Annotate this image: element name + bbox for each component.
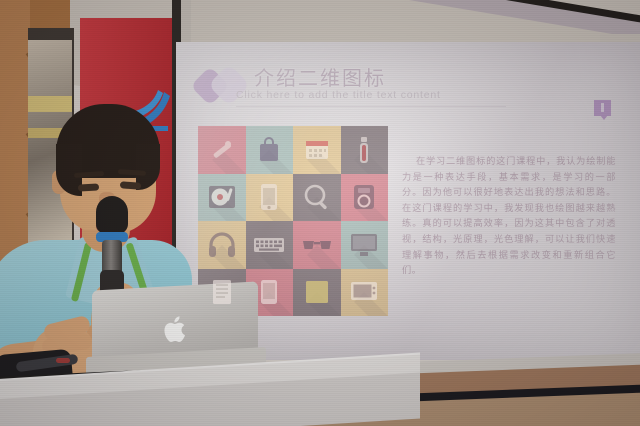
shopping-bag-icon	[257, 137, 281, 163]
icon-grid	[198, 126, 388, 316]
headphones-icon	[208, 232, 236, 258]
thermometer-icon	[357, 136, 371, 164]
cable-red-tag	[56, 358, 70, 363]
grid-tile-thermometer	[341, 126, 389, 174]
grid-tile-smartphone	[246, 174, 294, 222]
presentation-photo: 介绍二维图标 Click here to add the title text …	[0, 0, 640, 426]
pen-icon	[209, 137, 235, 163]
grid-tile-headphones	[198, 221, 246, 269]
slide-subtitle: Click here to add the title text content	[236, 89, 441, 101]
grid-tile-sunglasses	[293, 221, 341, 269]
grid-tile-television	[341, 269, 389, 317]
grid-tile-keyboard	[246, 221, 294, 269]
sunglasses-icon	[302, 238, 332, 252]
grid-tile-turntable	[198, 174, 246, 222]
eye-right	[120, 181, 141, 189]
keyboard-icon	[254, 238, 284, 252]
television-icon	[350, 281, 378, 303]
microphone-head	[96, 196, 128, 234]
title-divider	[236, 106, 506, 107]
slide-title: 介绍二维图标	[254, 62, 386, 91]
search-icon	[303, 183, 331, 211]
smartphone-icon	[260, 183, 278, 211]
grid-tile-bag	[246, 126, 294, 174]
apple-logo-icon	[162, 314, 188, 344]
grid-tile-calendar	[293, 126, 341, 174]
purple-pin-badge-mark	[601, 103, 604, 112]
slide-body-text: 在学习二维图标的这门课程中，我认为绘制能力是一种表达手段，基本需求，是学习的一部…	[402, 154, 616, 279]
turntable-icon	[208, 184, 236, 210]
grid-tile-pen	[198, 126, 246, 174]
mobile-icon	[260, 279, 278, 305]
eye-left	[78, 183, 99, 191]
monitor-icon	[350, 233, 378, 257]
calendar-icon	[304, 138, 330, 162]
overlapping-diamond-logo	[192, 60, 250, 112]
note-icon	[305, 280, 329, 304]
grid-tile-monitor	[341, 221, 389, 269]
notebook-icon	[212, 279, 232, 305]
grid-tile-note	[293, 269, 341, 317]
grid-tile-search	[293, 174, 341, 222]
purple-pin-badge-tail	[600, 115, 608, 120]
camera-icon	[353, 183, 375, 211]
grid-tile-camera	[341, 174, 389, 222]
